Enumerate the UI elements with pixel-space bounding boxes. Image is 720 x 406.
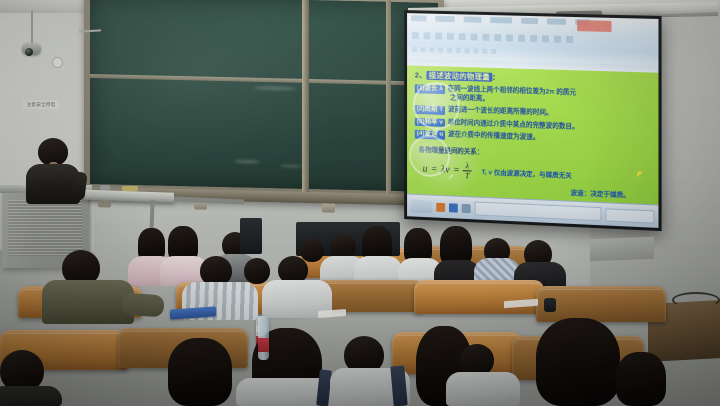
student-hair — [616, 352, 666, 406]
ribbon-icon[interactable] — [459, 33, 466, 40]
ribbon-small-icon[interactable] — [482, 49, 487, 54]
taskbar-window-button[interactable] — [475, 201, 602, 221]
ribbon-small-icon[interactable] — [456, 48, 461, 53]
ribbon-tab[interactable] — [521, 18, 538, 24]
student-arm — [121, 293, 164, 318]
bullet-body: 波在介质中的传播速度为波速。 — [448, 131, 539, 143]
cabinet-vents — [8, 200, 82, 256]
desk-item — [100, 185, 110, 190]
ribbon-icon[interactable] — [435, 32, 442, 39]
ribbon-small-icon[interactable] — [438, 47, 443, 52]
system-tray[interactable] — [605, 208, 654, 223]
ribbon-icon[interactable] — [566, 35, 573, 42]
chalkboard-slide-rail[interactable] — [386, 0, 391, 199]
ribbon-icon[interactable] — [494, 34, 501, 41]
ribbon-icon[interactable] — [471, 33, 478, 40]
ribbon-icon[interactable] — [482, 33, 489, 40]
student-hair — [536, 318, 620, 406]
ribbon-small-icon[interactable] — [491, 49, 496, 54]
ribbon-icon[interactable] — [424, 32, 431, 39]
ribbon-icon[interactable] — [506, 34, 513, 41]
bullet-body: 波前进一个波长的距离所需的时间。 — [448, 106, 553, 118]
camera-mount-pole — [31, 11, 33, 45]
formula-fraction: λ T — [463, 162, 472, 179]
board-mount-clip — [322, 203, 335, 212]
student-hair — [168, 338, 232, 406]
projected-desktop: 2、描述波动的物理量： (1)波长 λ 在同一波线上两个相邻的相位差为2π 的质… — [407, 13, 658, 228]
taskbar-icon[interactable] — [436, 202, 445, 211]
ribbon-icon[interactable] — [518, 34, 525, 41]
desk-item — [122, 186, 138, 191]
classroom-photo: 注意安全用电 — [0, 0, 720, 406]
decorative-bubble — [409, 134, 450, 177]
slide-content: 2、描述波动的物理量： (1)波长 λ 在同一波线上两个相邻的相位差为2π 的质… — [407, 65, 658, 205]
ribbon-icon[interactable] — [554, 35, 561, 42]
ribbon-small-icon[interactable] — [429, 47, 434, 52]
wall-fixture — [52, 57, 63, 68]
ribbon-tab[interactable] — [411, 15, 427, 21]
ribbon-tab[interactable] — [547, 18, 566, 24]
bench-middle[interactable] — [414, 280, 544, 314]
ribbon-tab[interactable] — [464, 16, 482, 22]
ribbon-icon[interactable] — [542, 35, 549, 42]
chalkboard — [84, 0, 444, 206]
ribbon-small-icon[interactable] — [465, 48, 470, 53]
relation-label: 各物理量是间的关系： — [419, 143, 653, 162]
student-head — [244, 258, 270, 284]
camera-lens-icon — [25, 48, 33, 56]
taskbar-icon[interactable] — [449, 203, 458, 212]
wall-sign: 注意安全用电 — [23, 100, 59, 109]
ribbon-tab[interactable] — [435, 16, 455, 22]
student-torso — [446, 372, 520, 406]
formula-eq: = — [453, 164, 460, 175]
formula-denominator: T — [465, 172, 470, 179]
bullet-body: 单位时间内通过介质中某点的完整波的数目。 — [448, 119, 579, 132]
ribbon-icon[interactable] — [447, 32, 454, 39]
small-device — [544, 298, 556, 312]
wall-radiator — [590, 237, 654, 261]
ribbon-small-icon[interactable] — [421, 47, 426, 52]
formula-note: T, ν 仅由波源决定，与媒质无关 — [482, 166, 572, 180]
student-torso-olive — [42, 280, 134, 324]
cable-coil — [672, 292, 720, 308]
student-torso — [0, 386, 62, 406]
decorative-bubble — [413, 81, 460, 130]
chalkboard-slide-rail[interactable] — [302, 0, 309, 197]
taskbar-icon[interactable] — [462, 203, 471, 212]
ribbon-small-icon[interactable] — [474, 48, 479, 53]
ribbon-small-icon[interactable] — [447, 48, 452, 53]
start-button[interactable] — [411, 199, 432, 213]
ribbon-icon[interactable] — [412, 31, 419, 38]
ribbon-tab[interactable] — [490, 17, 512, 24]
slide-title-text: 描述波动的物理量 — [427, 71, 492, 82]
ribbon-small-icon[interactable] — [412, 47, 417, 52]
student-head — [300, 238, 324, 262]
projection-screen: 2、描述波动的物理量： (1)波长 λ 在同一波线上两个相邻的相位差为2π 的质… — [404, 10, 661, 231]
equipment-panel — [240, 218, 262, 254]
ribbon-icon[interactable] — [530, 34, 537, 41]
ribbon-highlight-box — [577, 20, 611, 32]
slide-title-prefix: 2、 — [415, 71, 427, 80]
bottle-label — [258, 338, 269, 352]
formula-numerator: λ — [466, 162, 470, 169]
